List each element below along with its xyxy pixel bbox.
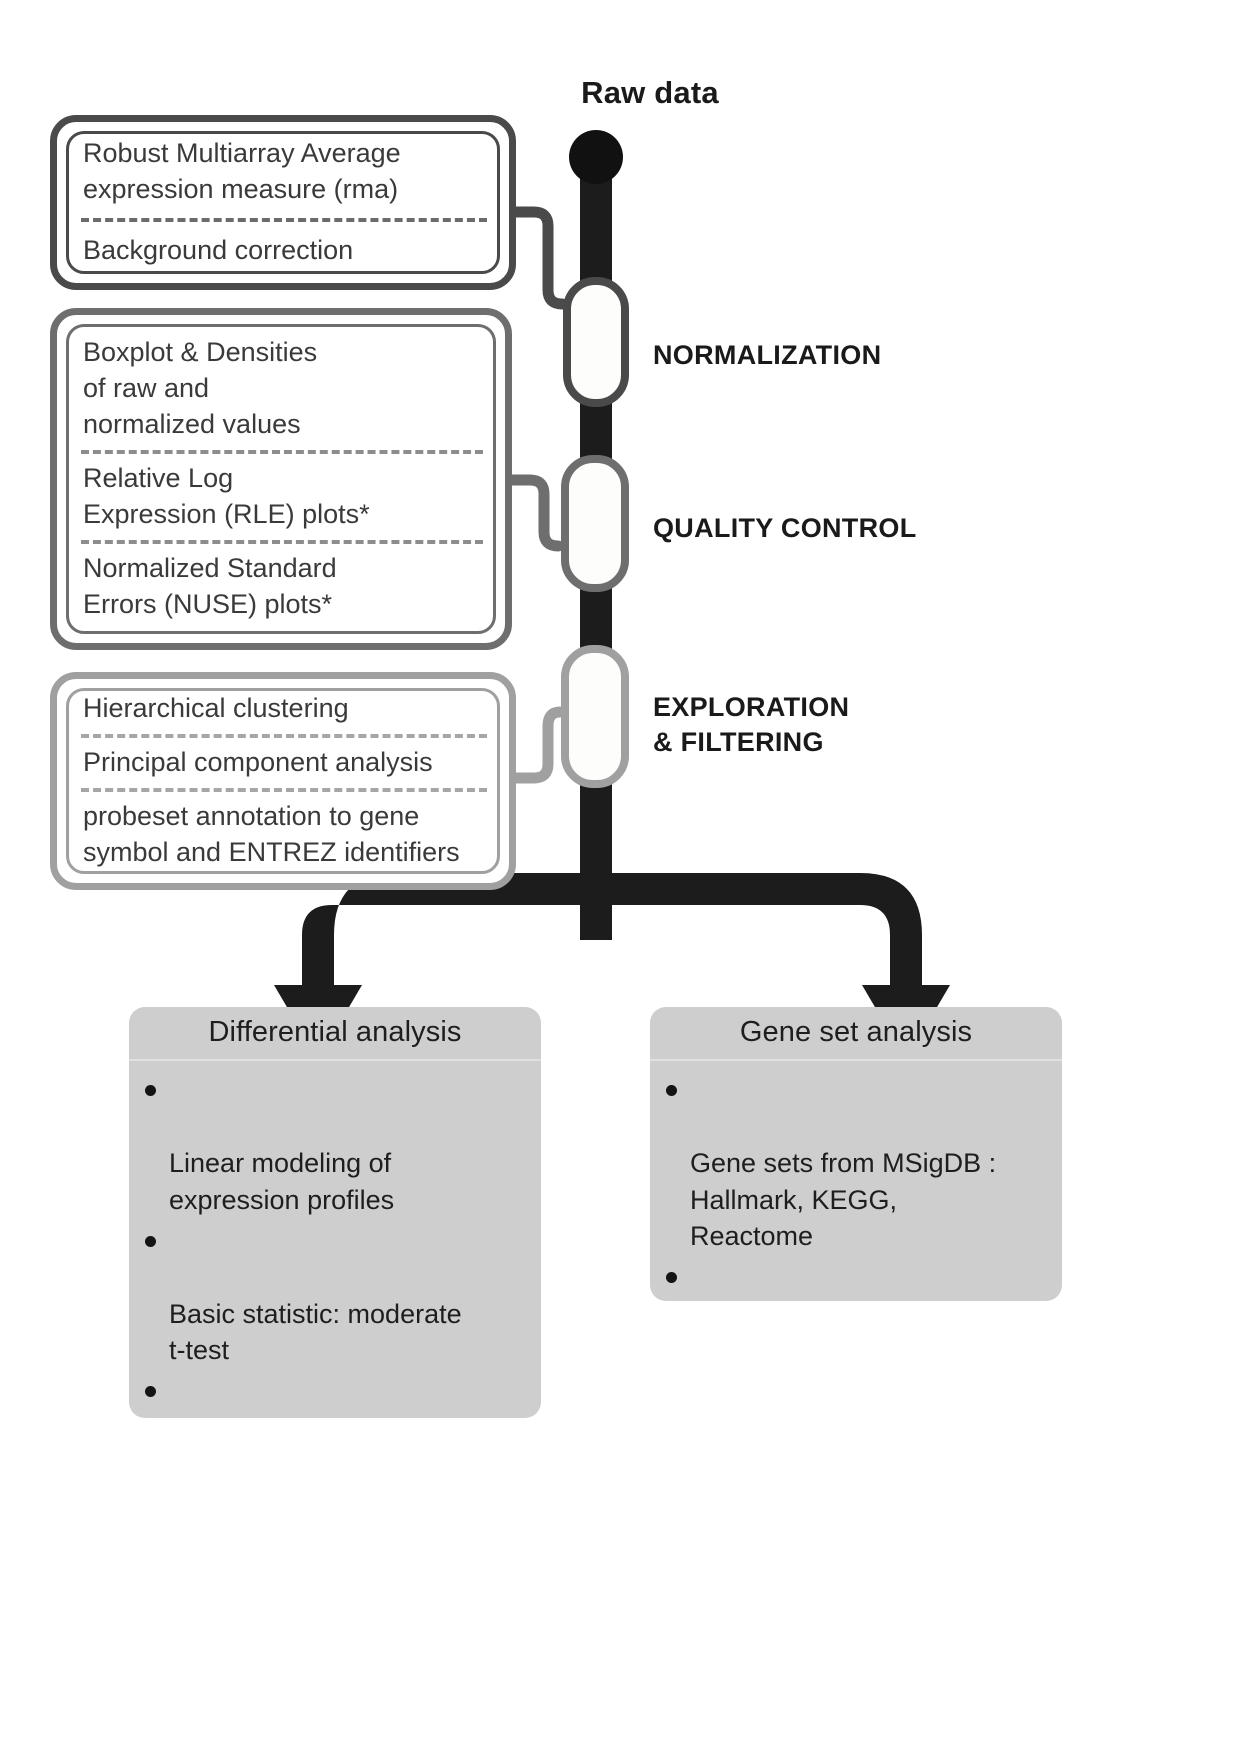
list-item-text: Gene sets from MSigDB : Hallmark, KEGG, … xyxy=(690,1148,996,1250)
connector-exploration xyxy=(516,712,560,778)
normalization-item-background-correction: Background correction xyxy=(69,229,497,273)
output-title-gene-set-analysis: Gene set analysis xyxy=(650,1007,1062,1061)
output-bullet-list-differential: Linear modeling of expression profiles B… xyxy=(129,1061,541,1418)
list-item: Linear modeling of expression profiles xyxy=(169,1073,525,1218)
stage-capsule-quality-control xyxy=(561,455,629,592)
qc-item-nuse-plots: Normalized Standard Errors (NUSE) plots* xyxy=(69,551,493,623)
bullet-icon xyxy=(666,1085,677,1096)
connector-quality-control xyxy=(512,480,558,546)
stage-label-normalization: NORMALIZATION xyxy=(653,338,881,373)
output-title-differential-analysis: Differential analysis xyxy=(129,1007,541,1061)
output-box-differential-analysis: Differential analysis Linear modeling of… xyxy=(129,1007,541,1418)
divider xyxy=(81,788,487,792)
bullet-icon xyxy=(145,1236,156,1247)
list-item-text: Linear modeling of expression profiles xyxy=(169,1148,394,1214)
raw-data-title: Raw data xyxy=(520,75,780,111)
bullet-icon xyxy=(666,1272,677,1283)
bullet-icon xyxy=(145,1085,156,1096)
stage-label-exploration-filtering: EXPLORATION & FILTERING xyxy=(653,690,849,760)
panel-normalization: Robust Multiarray Average expression mea… xyxy=(50,115,516,290)
divider xyxy=(81,450,483,454)
list-item: Multiple testing correstion of p-value u… xyxy=(169,1374,525,1418)
stage-capsule-exploration xyxy=(561,645,629,788)
divider xyxy=(81,540,483,544)
divider xyxy=(81,734,487,738)
list-item: Basic statistic: moderate t-test xyxy=(169,1224,525,1369)
list-item-text: Basic statistic: moderate t-test xyxy=(169,1299,462,1365)
qc-item-boxplot-densities: Boxplot & Densities of raw and normalize… xyxy=(69,335,493,443)
bullet-icon xyxy=(145,1386,156,1397)
stage-capsule-normalization xyxy=(563,277,629,407)
output-bullet-list-gene-set: Gene sets from MSigDB : Hallmark, KEGG, … xyxy=(650,1061,1062,1301)
list-item: Gene sets from MSigDB : Hallmark, KEGG, … xyxy=(690,1073,1046,1254)
exploration-item-hierarchical-clustering: Hierarchical clustering xyxy=(69,691,497,727)
panel-quality-control: Boxplot & Densities of raw and normalize… xyxy=(50,308,512,650)
connector-normalization xyxy=(516,212,562,304)
qc-item-rle-plots: Relative Log Expression (RLE) plots* xyxy=(69,461,493,533)
exploration-item-probeset-annotation: probeset annotation to gene symbol and E… xyxy=(69,799,497,871)
normalization-item-rma: Robust Multiarray Average expression mea… xyxy=(69,132,497,212)
divider xyxy=(81,218,487,222)
output-box-gene-set-analysis: Gene set analysis Gene sets from MSigDB … xyxy=(650,1007,1062,1301)
flowchart-canvas: Raw data Robust Multiarray Average expre… xyxy=(0,0,1240,1753)
list-item: Gene set test using competitive method C… xyxy=(690,1260,1046,1301)
exploration-item-pca: Principal component analysis xyxy=(69,745,497,781)
stage-label-quality-control: QUALITY CONTROL xyxy=(653,511,917,546)
panel-exploration-filtering: Hierarchical clustering Principal compon… xyxy=(50,672,516,890)
